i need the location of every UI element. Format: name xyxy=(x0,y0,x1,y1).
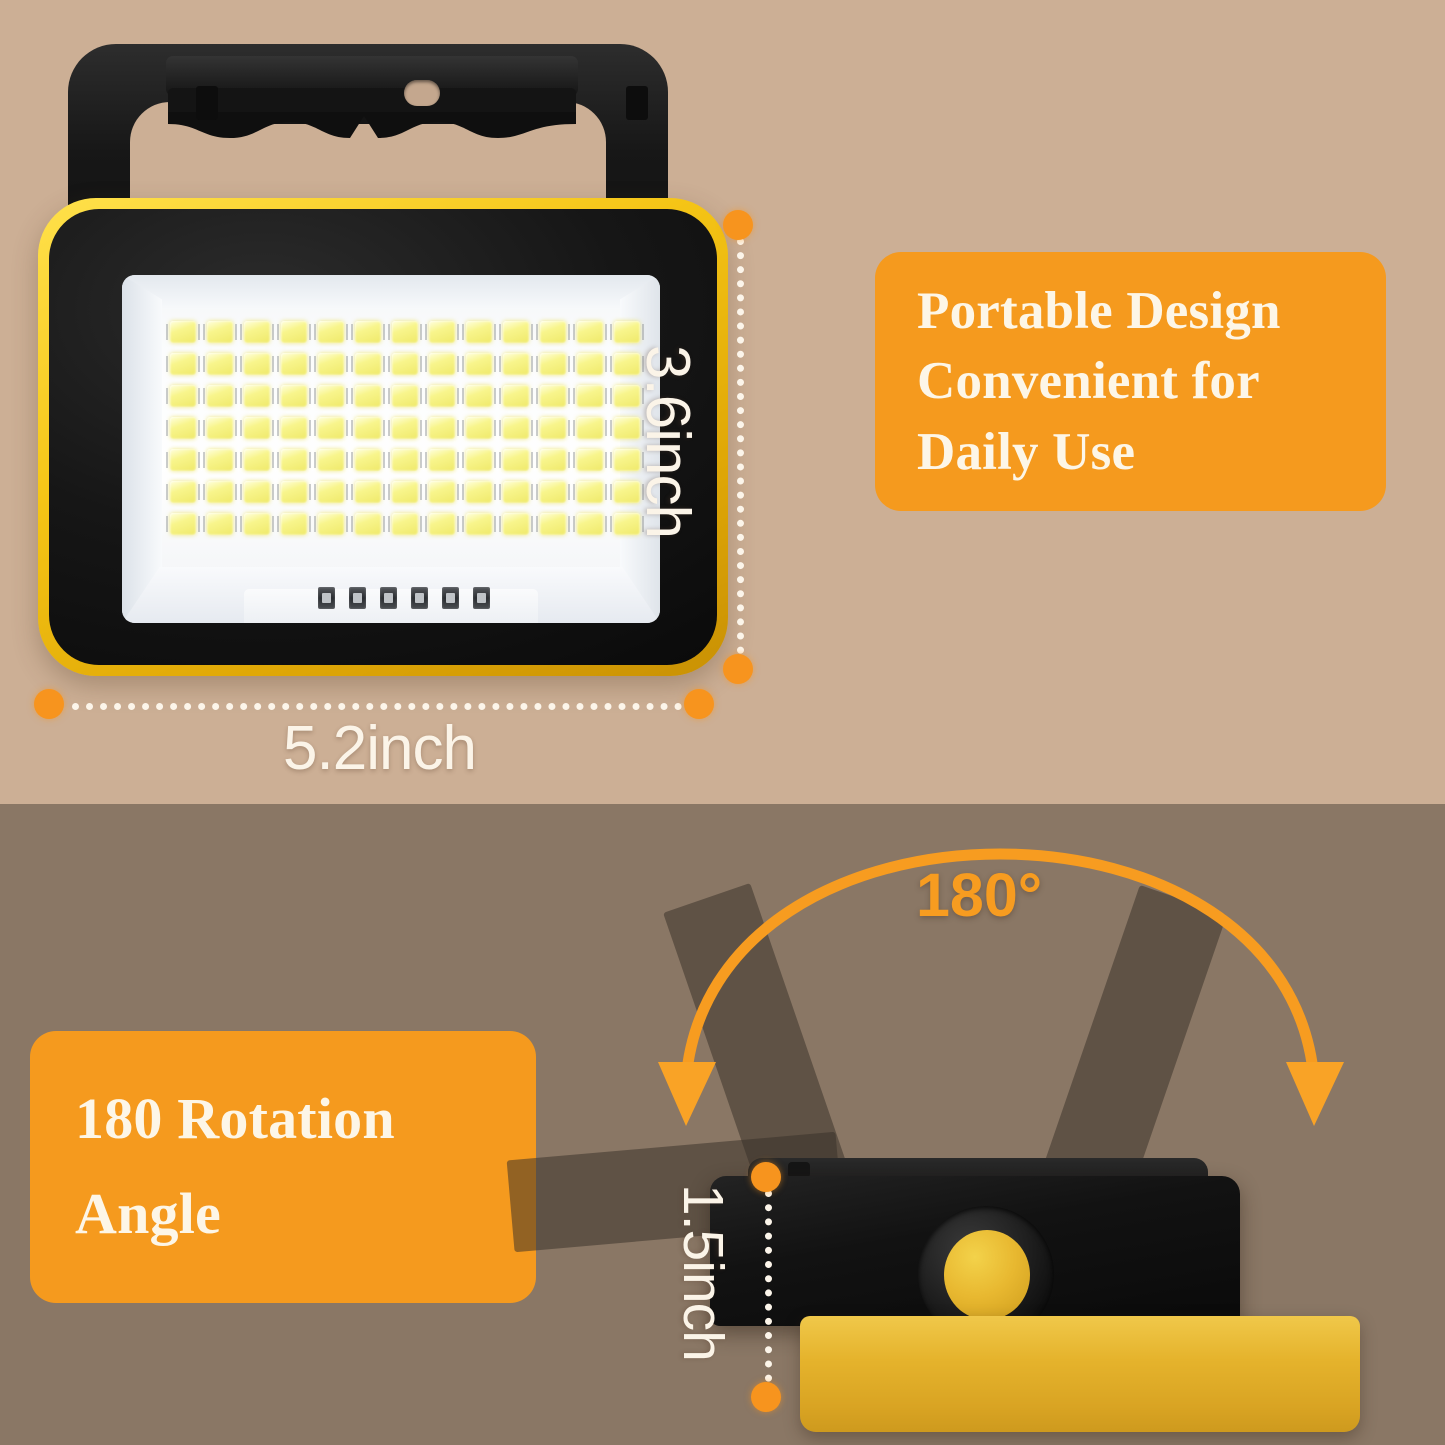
led-chip xyxy=(577,385,603,407)
driver-chip xyxy=(411,587,428,609)
led-chip xyxy=(281,417,307,439)
led-chip xyxy=(170,481,196,503)
led-chip xyxy=(503,481,529,503)
depth-dimension-label: 1.5inch xyxy=(670,1184,736,1361)
led-array xyxy=(170,321,640,535)
led-chip xyxy=(466,513,492,535)
height-dimension-line xyxy=(737,238,744,668)
width-dimension-label: 5.2inch xyxy=(283,713,476,784)
led-chip xyxy=(466,385,492,407)
led-chip xyxy=(281,385,307,407)
led-chip xyxy=(577,449,603,471)
led-chip xyxy=(170,513,196,535)
led-chip xyxy=(318,353,344,375)
led-chip xyxy=(281,513,307,535)
led-chip xyxy=(318,321,344,343)
led-chip xyxy=(207,353,233,375)
led-chip xyxy=(355,353,381,375)
depth-dimension-dot-top xyxy=(751,1162,781,1192)
led-chip xyxy=(281,353,307,375)
led-chip xyxy=(318,513,344,535)
led-chip xyxy=(207,449,233,471)
led-chip xyxy=(466,353,492,375)
driver-chip xyxy=(473,587,490,609)
arc-arrowhead-left xyxy=(658,1062,716,1126)
lamp-yellow-frame xyxy=(38,198,728,676)
led-chip xyxy=(540,481,566,503)
led-chip xyxy=(355,449,381,471)
reflector-bevel-top xyxy=(122,275,660,309)
led-chip xyxy=(466,449,492,471)
led-chip xyxy=(244,385,270,407)
depth-dimension-dot-bottom xyxy=(751,1382,781,1412)
led-chip xyxy=(503,417,529,439)
led-chip xyxy=(392,513,418,535)
floodlight-front-view xyxy=(38,26,728,676)
led-chip xyxy=(207,481,233,503)
rotation-angle-callout: 180 Rotation Angle xyxy=(30,1031,536,1303)
led-chip xyxy=(244,481,270,503)
led-chip xyxy=(318,385,344,407)
led-chip xyxy=(244,353,270,375)
led-chip xyxy=(207,385,233,407)
led-chip xyxy=(540,353,566,375)
height-dimension-dot-top xyxy=(723,210,753,240)
width-dimension-dot-right xyxy=(684,689,714,719)
handle-wave-detail xyxy=(168,112,576,140)
led-chip xyxy=(392,385,418,407)
width-dimension-dot-left xyxy=(34,689,64,719)
led-chip xyxy=(540,449,566,471)
led-chip xyxy=(466,321,492,343)
led-chip xyxy=(170,321,196,343)
led-chip xyxy=(355,417,381,439)
led-chip xyxy=(429,385,455,407)
led-chip xyxy=(170,449,196,471)
rotation-callout-line-1: 180 Rotation xyxy=(75,1072,491,1167)
portable-callout-line-1: Portable Design xyxy=(917,276,1344,346)
led-chip xyxy=(540,417,566,439)
handle-notch-left xyxy=(196,86,218,120)
portable-design-callout: Portable Design Convenient for Daily Use xyxy=(875,252,1386,511)
led-chip xyxy=(503,449,529,471)
driver-chip xyxy=(349,587,366,609)
reflector-bevel-left xyxy=(122,275,162,623)
led-chip xyxy=(207,513,233,535)
led-chip xyxy=(503,385,529,407)
led-chip xyxy=(355,481,381,503)
led-chip xyxy=(429,321,455,343)
led-chip xyxy=(577,353,603,375)
led-chip xyxy=(503,513,529,535)
led-chip xyxy=(392,353,418,375)
led-chip xyxy=(355,513,381,535)
led-chip xyxy=(540,513,566,535)
led-chip xyxy=(392,481,418,503)
led-chip xyxy=(577,321,603,343)
led-chip xyxy=(170,353,196,375)
led-chip xyxy=(318,449,344,471)
driver-chip-row xyxy=(318,587,490,609)
led-chip xyxy=(466,481,492,503)
lamp-black-bezel xyxy=(49,209,717,665)
led-chip xyxy=(540,385,566,407)
led-chip xyxy=(392,321,418,343)
lamp-reflector-cavity xyxy=(122,275,660,623)
led-chip xyxy=(429,481,455,503)
led-chip xyxy=(281,481,307,503)
led-chip xyxy=(503,321,529,343)
arc-arrowhead-right xyxy=(1286,1062,1344,1126)
led-chip xyxy=(281,449,307,471)
led-chip xyxy=(466,417,492,439)
led-chip xyxy=(429,353,455,375)
driver-chip xyxy=(318,587,335,609)
led-chip xyxy=(355,321,381,343)
led-chip xyxy=(392,449,418,471)
hanging-hole xyxy=(404,80,440,106)
led-chip xyxy=(614,321,640,343)
rotation-knob-icon xyxy=(944,1230,1030,1320)
led-chip xyxy=(429,513,455,535)
driver-chip xyxy=(380,587,397,609)
led-chip xyxy=(540,321,566,343)
led-chip xyxy=(244,449,270,471)
driver-chip xyxy=(442,587,459,609)
led-chip xyxy=(577,513,603,535)
led-chip xyxy=(207,417,233,439)
width-dimension-line xyxy=(72,703,682,710)
led-chip xyxy=(429,449,455,471)
led-chip xyxy=(244,513,270,535)
led-chip xyxy=(281,321,307,343)
led-chip xyxy=(244,321,270,343)
portable-callout-line-3: Daily Use xyxy=(917,417,1344,487)
lamp-yellow-base xyxy=(800,1316,1360,1432)
led-chip xyxy=(244,417,270,439)
handle-notch-right xyxy=(626,86,648,120)
led-chip xyxy=(429,417,455,439)
product-infographic: 3.6inch 5.2inch Portable Design Convenie… xyxy=(0,0,1445,1445)
led-chip xyxy=(318,417,344,439)
led-chip xyxy=(392,417,418,439)
portable-callout-line-2: Convenient for xyxy=(917,346,1344,416)
height-dimension-label: 3.6inch xyxy=(632,345,703,538)
rotation-angle-value: 180° xyxy=(916,860,1042,930)
depth-dimension-line xyxy=(765,1190,772,1396)
led-chip xyxy=(318,481,344,503)
led-chip xyxy=(503,353,529,375)
led-chip xyxy=(577,481,603,503)
led-chip xyxy=(170,385,196,407)
led-chip xyxy=(207,321,233,343)
led-chip xyxy=(170,417,196,439)
led-chip xyxy=(355,385,381,407)
led-chip xyxy=(577,417,603,439)
rotation-callout-line-2: Angle xyxy=(75,1167,491,1262)
height-dimension-dot-bottom xyxy=(723,654,753,684)
